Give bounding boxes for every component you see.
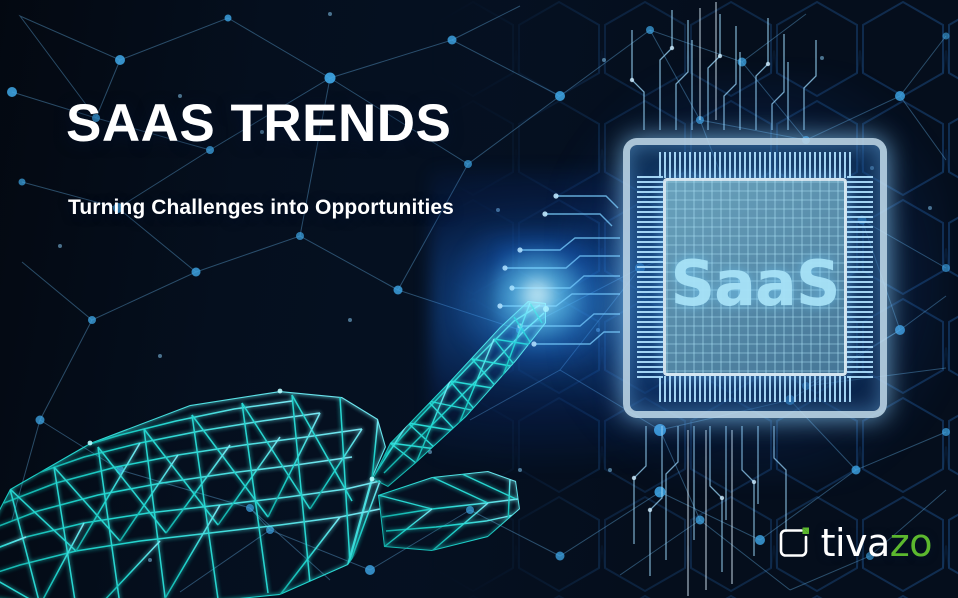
processor-chip: SaaS <box>615 128 895 428</box>
chip-label: SaaS <box>671 247 840 320</box>
hand-index-finger-mesh <box>372 301 546 487</box>
page-subtitle: Turning Challenges into Opportunities <box>68 196 586 220</box>
logo-wordmark: tivazo <box>821 524 932 562</box>
hand-node-group <box>88 306 549 481</box>
chip-die: SaaS <box>663 178 847 376</box>
page-title: SAAS TRENDS <box>66 96 586 151</box>
chip-pins-right <box>847 176 873 378</box>
brand-logo[interactable]: tivazo <box>777 524 932 562</box>
headline-block: SAAS TRENDS Turning Challenges into Oppo… <box>66 96 586 220</box>
hand-palm-mesh <box>0 391 386 598</box>
logo-word-part1: tiva <box>821 521 890 565</box>
chip-pins-left <box>637 176 663 378</box>
hand-thumb-mesh <box>378 471 520 551</box>
chip-pins-bottom <box>659 376 851 402</box>
wireframe-hand <box>0 265 560 598</box>
logo-mark-icon <box>777 525 811 561</box>
logo-word-part2: zo <box>890 521 932 565</box>
chip-pins-top <box>659 152 851 178</box>
banner-root: SaaS <box>0 0 958 598</box>
